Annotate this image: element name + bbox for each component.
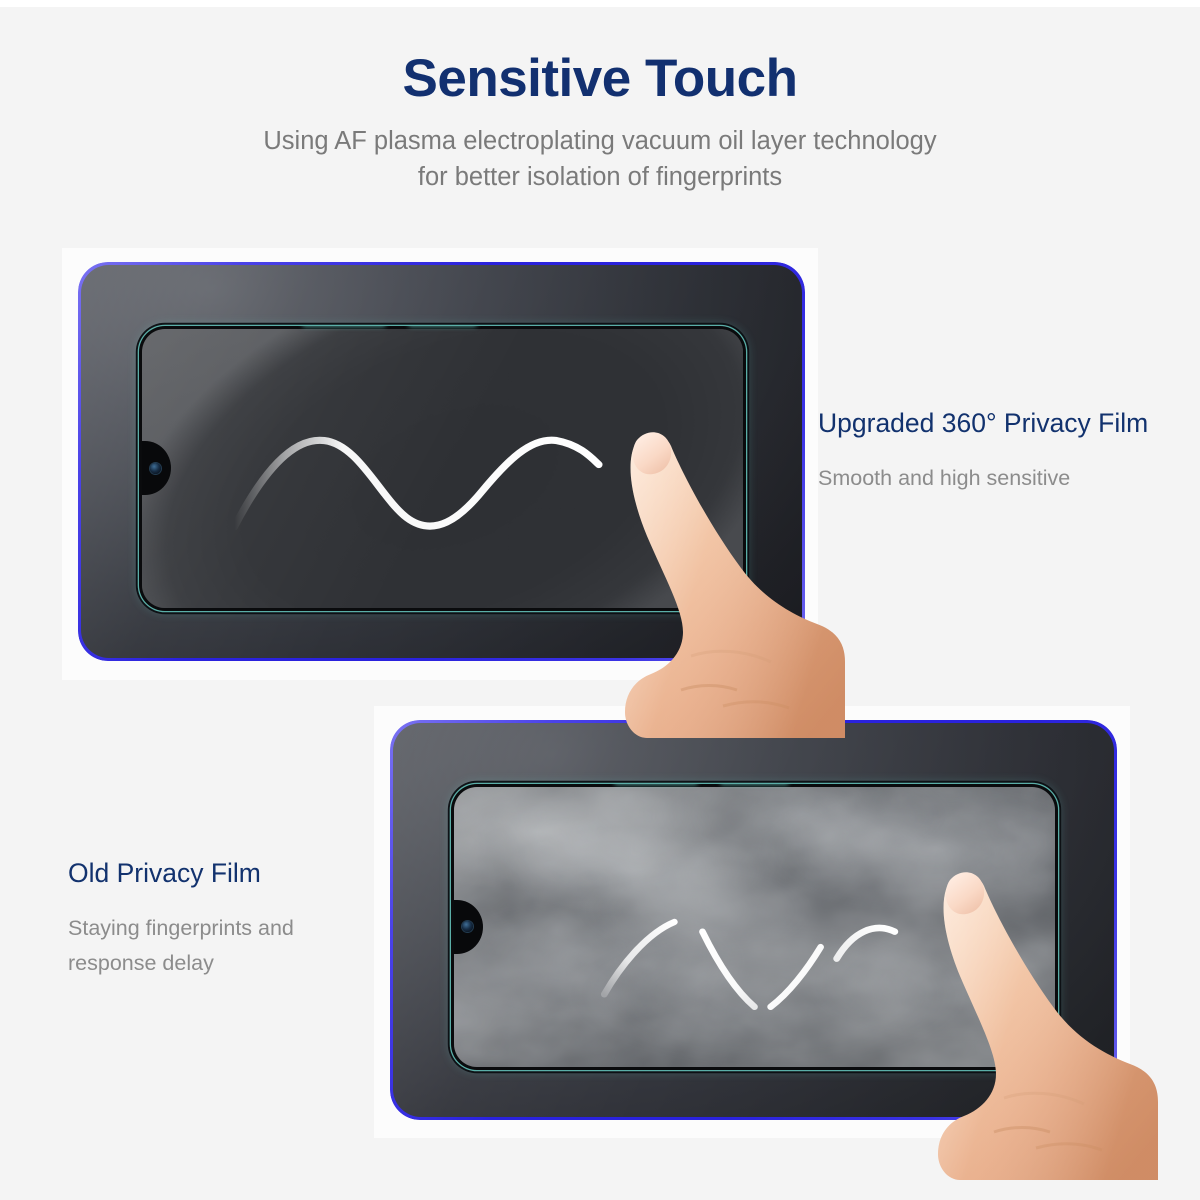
callout-upgraded-privacy-film: Upgraded 360° Privacy Film Smooth and hi… <box>818 408 1190 496</box>
callout-old-subtitle-line-1: Staying fingerprints and <box>68 911 398 946</box>
callout-upgraded-subtitle: Smooth and high sensitive <box>818 461 1190 496</box>
page-subtitle: Using AF plasma electroplating vacuum oi… <box>0 123 1200 195</box>
fingerprint-smudge-texture <box>454 787 1055 1067</box>
top-white-margin <box>0 0 1200 7</box>
speaker-slot-row-top <box>139 326 746 328</box>
page-title: Sensitive Touch <box>0 52 1200 105</box>
callout-upgraded-title: Upgraded 360° Privacy Film <box>818 408 1190 438</box>
page-header: Sensitive Touch Using AF plasma electrop… <box>0 52 1200 195</box>
phone-body-bottom <box>393 723 1114 1117</box>
callout-old-privacy-film: Old Privacy Film Staying fingerprints an… <box>68 858 398 981</box>
screen-glass-bottom <box>451 784 1058 1070</box>
callout-old-title: Old Privacy Film <box>68 858 398 888</box>
speaker-slot-row-bottom <box>451 784 1058 786</box>
page-subtitle-line-1: Using AF plasma electroplating vacuum oi… <box>0 123 1200 159</box>
swipe-trail-icon-bottom <box>454 787 1055 1067</box>
phone-body-top <box>81 265 802 658</box>
product-feature-page: Sensitive Touch Using AF plasma electrop… <box>0 0 1200 1200</box>
page-subtitle-line-2: for better isolation of fingerprints <box>0 159 1200 195</box>
callout-upgraded-subtitle-line-1: Smooth and high sensitive <box>818 461 1190 496</box>
phone-old-privacy-film <box>390 720 1117 1120</box>
camera-lens-icon-top <box>150 463 161 474</box>
teardrop-notch-bottom <box>454 900 483 954</box>
phone-upgraded-privacy-film <box>78 262 805 661</box>
phone-screen-bottom <box>454 787 1055 1067</box>
callout-old-subtitle: Staying fingerprints and response delay <box>68 911 398 981</box>
callout-old-subtitle-line-2: response delay <box>68 946 398 981</box>
phone-screen-top <box>142 329 743 608</box>
glass-gloss-bottom <box>454 787 1055 1067</box>
privacy-film-viewing-cone <box>142 329 743 608</box>
screen-glass-top <box>139 326 746 611</box>
camera-lens-icon-bottom <box>462 921 473 932</box>
